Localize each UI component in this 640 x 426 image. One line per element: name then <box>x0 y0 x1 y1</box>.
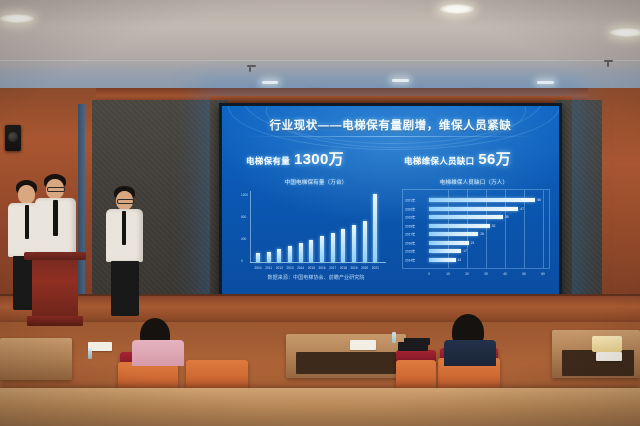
x-tick-label: 40 <box>503 272 507 276</box>
bar-value-label: 56 <box>537 198 541 202</box>
bar-value-label: 32 <box>492 224 496 228</box>
y-tick-label: 2018年 <box>405 223 415 228</box>
laptop-screen <box>404 338 430 345</box>
bar <box>429 241 469 245</box>
bar <box>309 240 313 262</box>
water-bottle <box>88 348 92 359</box>
y-tick-label: 1200 <box>241 193 248 197</box>
podium-base <box>27 316 83 326</box>
bar-value-label: 17 <box>463 249 467 253</box>
podium <box>24 252 86 326</box>
y-tick-label: 800 <box>241 215 246 219</box>
bar <box>341 229 345 262</box>
glasses-icon <box>47 187 65 192</box>
sprinkler-stem-icon <box>249 67 251 72</box>
ceiling-seam <box>0 60 640 61</box>
necktie <box>25 205 29 239</box>
audience-person-body <box>132 340 184 366</box>
podium-body <box>32 260 78 318</box>
striplight-icon <box>262 81 278 84</box>
wall-speaker-icon <box>5 125 21 151</box>
desk-shelf <box>296 352 396 374</box>
x-tick-label: 10 <box>446 272 450 276</box>
legs <box>111 261 139 316</box>
bar-value-label: 26 <box>480 232 484 236</box>
slide-title: 行业现状——电梯保有量剧增，维保人员紧缺 <box>222 117 559 133</box>
bar <box>429 232 478 236</box>
kpi-left-value: 1300万 <box>294 151 344 168</box>
bar <box>331 233 335 262</box>
bar <box>363 221 367 262</box>
bar <box>429 249 461 253</box>
kpi-right-value: 56万 <box>478 151 511 168</box>
bar-value-label: 47 <box>520 207 524 211</box>
y-tick-label: 2015年 <box>405 249 415 254</box>
bar-value-label: 39 <box>505 215 509 219</box>
y-tick-label: 0 <box>241 259 243 263</box>
chart-panel-staff-gap: 电梯维保人员缺口（万人） 01020304050602021年562020年47… <box>398 178 550 290</box>
presenter-3 <box>103 186 147 316</box>
gridline <box>543 190 544 268</box>
bar-value-label: 14 <box>458 258 462 262</box>
audience-chair <box>118 362 178 390</box>
downlight-icon <box>0 14 34 23</box>
downlight-icon <box>440 4 474 14</box>
y-tick-label: 2016年 <box>405 240 415 245</box>
presentation-screen: 行业现状——电梯保有量剧增，维保人员紧缺 电梯保有量1300万 电梯维保人员缺口… <box>222 106 559 296</box>
bar-chart-staff-gap: 01020304050602021年562020年472019年392018年3… <box>402 189 550 269</box>
chart-panel-ownership: 中国电梯保有量（万台） 2010201120122013201420152016… <box>240 178 392 290</box>
audience-desk <box>0 338 72 380</box>
x-tick-label: 2018 <box>340 266 347 270</box>
x-tick-label: 0 <box>428 272 430 276</box>
x-tick-label: 2014 <box>297 266 304 270</box>
glasses-icon <box>117 199 134 204</box>
bar <box>277 249 281 262</box>
x-tick-label: 2016 <box>318 266 325 270</box>
speaker-cone-icon <box>8 132 18 142</box>
y-tick-label: 2020年 <box>405 206 415 211</box>
kpi-staff-gap: 电梯维保人员缺口56万 <box>404 148 511 169</box>
audience-person-body <box>444 340 496 366</box>
x-tick-label: 2010 <box>254 266 261 270</box>
bar <box>352 225 356 262</box>
bar <box>429 198 535 202</box>
sprinkler-stem-icon <box>607 62 609 67</box>
y-tick-label: 2019年 <box>405 215 415 220</box>
chart-title-ownership: 中国电梯保有量（万台） <box>240 178 392 186</box>
x-tick-label: 2011 <box>265 266 272 270</box>
photo-scene: 行业现状——电梯保有量剧增，维保人员紧缺 电梯保有量1300万 电梯维保人员缺口… <box>0 0 640 426</box>
bar-chart-ownership: 2010201120122013201420152016201720182019… <box>250 191 386 263</box>
x-tick-label: 50 <box>522 272 526 276</box>
paper-sheet <box>350 340 376 350</box>
x-tick-label: 2017 <box>329 266 336 270</box>
bar <box>429 207 518 211</box>
water-bottle <box>392 332 396 343</box>
bar <box>429 224 490 228</box>
kpi-elevator-ownership: 电梯保有量1300万 <box>246 148 344 169</box>
title-divider <box>246 136 535 137</box>
y-tick-label: 2021年 <box>405 198 415 203</box>
striplight-icon <box>537 81 554 84</box>
kpi-right-label: 电梯维保人员缺口 <box>404 156 474 166</box>
x-tick-label: 2015 <box>308 266 315 270</box>
x-tick-label: 2012 <box>276 266 283 270</box>
downlight-icon <box>610 28 640 37</box>
bar <box>320 236 324 262</box>
bar <box>256 253 260 262</box>
snack-box <box>592 336 622 352</box>
paper-sheet <box>596 352 622 361</box>
audience-chair <box>396 360 436 390</box>
y-tick-label: 400 <box>241 237 246 241</box>
y-tick-label: 2014年 <box>405 257 415 262</box>
y-tick-label: 2017年 <box>405 232 415 237</box>
audience-chair <box>186 360 248 390</box>
bar <box>299 243 303 262</box>
x-tick-label: 20 <box>465 272 469 276</box>
necktie <box>122 211 126 245</box>
x-tick-label: 2021 <box>372 266 379 270</box>
bar <box>429 215 503 219</box>
striplight-icon <box>392 79 409 82</box>
bar <box>267 252 271 263</box>
x-tick-label: 60 <box>541 272 545 276</box>
bar <box>373 194 377 262</box>
bar <box>429 258 456 262</box>
y-axis <box>250 191 251 263</box>
bar-value-label: 21 <box>471 241 475 245</box>
x-axis <box>250 262 386 263</box>
x-tick-label: 30 <box>484 272 488 276</box>
kpi-left-label: 电梯保有量 <box>246 156 290 166</box>
x-tick-label: 2013 <box>286 266 293 270</box>
front-desk-row <box>0 388 640 426</box>
podium-top <box>24 252 86 260</box>
chart-title-staff-gap: 电梯维保人员缺口（万人） <box>398 178 550 186</box>
chart-source-note: 数据来源：中国电梯协会、前瞻产业研究院 <box>240 274 392 281</box>
x-tick-label: 2020 <box>361 266 368 270</box>
necktie <box>53 200 58 236</box>
bar <box>288 246 292 262</box>
acoustic-panel-right <box>556 100 602 322</box>
x-tick-label: 2019 <box>350 266 357 270</box>
